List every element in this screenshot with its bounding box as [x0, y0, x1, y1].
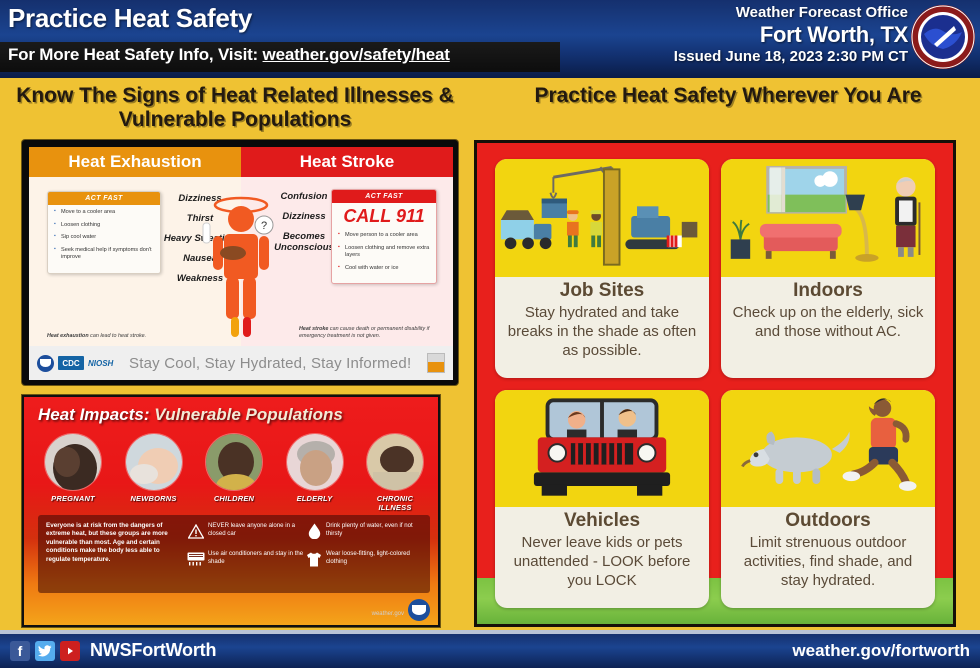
safety-card-body: Never leave kids or pets unattended - LO…	[503, 533, 701, 590]
facebook-icon[interactable]: f	[10, 641, 30, 661]
newborns-photo	[125, 433, 183, 491]
heat-impacts-tips: NEVER leave anyone alone in a closed car…	[176, 522, 422, 586]
runner-and-dog-icon	[721, 390, 935, 508]
safety-card-job-sites[interactable]: Job Sites Stay hydrated and take breaks …	[495, 159, 709, 378]
heat-impacts-title-sub: Vulnerable Populations	[154, 405, 343, 424]
heat-impacts-info-box: Everyone is at risk from the dangers of …	[38, 515, 430, 593]
vulnerable-group: CHILDREN	[199, 433, 269, 512]
heat-card-footer-strip: CDC NIOSH Stay Cool, Stay Hydrated, Stay…	[29, 346, 453, 380]
heat-impacts-title-main: Heat Impacts:	[38, 405, 149, 424]
noaa-seal-icon	[408, 599, 430, 621]
twitter-icon[interactable]	[35, 641, 55, 661]
header-bar: Practice Heat Safety For More Heat Safet…	[0, 0, 980, 78]
vulnerable-group: NEWBORNS	[119, 433, 189, 512]
safety-card-heading: Outdoors	[729, 509, 927, 533]
vulnerable-groups-row: PREGNANT NEWBORNS CHILDREN ELDERLY	[38, 433, 430, 512]
weather-gov-watermark: weather.gov	[372, 611, 404, 617]
stay-cool-slogan: Stay Cool, Stay Hydrated, Stay Informed!	[113, 355, 427, 372]
office-location: Fort Worth, TX	[674, 22, 908, 47]
construction-site-icon	[495, 159, 709, 277]
infographic-root: Practice Heat Safety For More Heat Safet…	[0, 0, 980, 668]
act-fast-item: Cool with water or ice	[338, 265, 431, 273]
heat-illness-inner: Heat Exhaustion Heat Stroke ACT FAST Mov…	[29, 147, 453, 380]
office-info: Weather Forecast Office Fort Worth, TX I…	[674, 3, 908, 67]
air-conditioner-icon	[186, 550, 206, 568]
act-fast-label-right: ACT FAST	[332, 190, 436, 203]
safety-card-body: Stay hydrated and take breaks in the sha…	[503, 303, 701, 360]
heat-tip-text: NEVER leave anyone alone in a closed car	[206, 522, 304, 538]
noaa-logo-icon	[37, 355, 54, 372]
act-fast-item: Loosen clothing and remove extra layers	[338, 245, 431, 260]
safety-card-indoors[interactable]: Indoors Check up on the elderly, sick an…	[721, 159, 935, 378]
vulnerable-group-label: NEWBORNS	[119, 495, 189, 504]
water-drop-icon	[304, 522, 324, 540]
heat-stroke-note: Heat stroke can cause death or permanent…	[299, 326, 441, 340]
act-fast-item: Move person to a cooler area	[338, 232, 431, 240]
chronic-illness-photo	[366, 433, 424, 491]
act-fast-box-exhaustion: ACT FAST Move to a cooler area Loosen cl…	[47, 191, 161, 274]
heat-exhaustion-heading: Heat Exhaustion	[29, 147, 241, 177]
vulnerable-group: CHRONIC ILLNESS	[360, 433, 430, 512]
heat-illness-headings: Heat Exhaustion Heat Stroke	[29, 147, 453, 177]
header-subtitle-prefix: For More Heat Safety Info, Visit:	[8, 45, 263, 64]
heat-illness-card: Heat Exhaustion Heat Stroke ACT FAST Mov…	[22, 140, 458, 385]
act-fast-list-right: Move person to a cooler area Loosen clot…	[332, 228, 436, 283]
note-rest: can lead to heat stroke.	[89, 333, 147, 339]
heat-stroke-heading: Heat Stroke	[241, 147, 453, 177]
heat-tip-text: Wear loose-fitting, light-colored clothi…	[324, 550, 422, 566]
nws-seal-icon	[910, 4, 976, 70]
svg-text:?: ?	[261, 220, 267, 232]
safety-card-body: Limit strenuous outdoor activities, find…	[729, 533, 927, 590]
note-bold: Heat exhaustion	[47, 333, 89, 339]
act-fast-item: Move to a cooler area	[54, 209, 155, 217]
safety-card-text: Job Sites Stay hydrated and take breaks …	[495, 277, 709, 378]
safety-card-body: Check up on the elderly, sick and those …	[729, 303, 927, 341]
safety-card-heading: Indoors	[729, 279, 927, 303]
act-fast-label-left: ACT FAST	[48, 192, 160, 205]
heat-tip-text: Use air conditioners and stay in the sha…	[206, 550, 304, 566]
heat-impacts-blurb: Everyone is at risk from the dangers of …	[46, 522, 176, 586]
pregnant-photo	[44, 433, 102, 491]
heat-tip: Wear loose-fitting, light-colored clothi…	[304, 550, 422, 568]
right-section-title: Practice Heat Safety Wherever You Are	[478, 84, 978, 108]
act-fast-list-left: Move to a cooler area Loosen clothing Si…	[48, 205, 160, 273]
vulnerable-group-label: CHRONIC ILLNESS	[360, 495, 430, 512]
living-room-icon	[721, 159, 935, 277]
children-photo	[205, 433, 263, 491]
vulnerable-group-label: PREGNANT	[38, 495, 108, 504]
left-section-title: Know The Signs of Heat Related Illnesses…	[0, 84, 470, 132]
heat-tip: Use air conditioners and stay in the sha…	[186, 550, 304, 568]
safety-card-text: Vehicles Never leave kids or pets unatte…	[495, 507, 709, 608]
act-fast-item: Seek medical help if symptoms don't impr…	[54, 247, 155, 262]
warning-triangle-icon	[186, 522, 206, 540]
youtube-icon[interactable]	[60, 641, 80, 661]
footer-bar: f NWSFortWorth weather.gov/fortworth	[0, 630, 980, 668]
vulnerable-group: PREGNANT	[38, 433, 108, 512]
safety-cards-panel: Job Sites Stay hydrated and take breaks …	[474, 140, 956, 627]
safety-card-vehicles[interactable]: Vehicles Never leave kids or pets unatte…	[495, 390, 709, 609]
heat-exhaustion-note: Heat exhaustion can lead to heat stroke.	[47, 333, 197, 340]
safety-card-text: Outdoors Limit strenuous outdoor activit…	[721, 507, 935, 608]
heat-tip: Drink plenty of water, even if not thirs…	[304, 522, 422, 540]
heat-tip-text: Drink plenty of water, even if not thirs…	[324, 522, 422, 538]
safety-cards-grid: Job Sites Stay hydrated and take breaks …	[477, 143, 953, 624]
act-fast-item: Sip cool water	[54, 234, 155, 242]
note-bold: Heat stroke	[299, 326, 328, 332]
call-911-text: CALL 911	[332, 203, 436, 228]
heat-tip: NEVER leave anyone alone in a closed car	[186, 522, 304, 540]
cdc-logo-icon: CDC	[58, 356, 84, 370]
heat-person-icon: ?	[193, 189, 289, 339]
act-fast-item: Loosen clothing	[54, 222, 155, 230]
elderly-photo	[286, 433, 344, 491]
safety-card-heading: Job Sites	[503, 279, 701, 303]
heat-impacts-title: Heat Impacts: Vulnerable Populations	[38, 405, 343, 425]
vulnerable-group-label: ELDERLY	[280, 495, 350, 504]
safety-card-text: Indoors Check up on the elderly, sick an…	[721, 277, 935, 378]
niosh-logo-icon: NIOSH	[88, 359, 113, 368]
tshirt-icon	[304, 550, 324, 568]
issued-timestamp: Issued June 18, 2023 2:30 PM CT	[674, 47, 908, 67]
social-links: f NWSFortWorth	[10, 640, 216, 661]
heat-impacts-card: Heat Impacts: Vulnerable Populations PRE…	[22, 395, 440, 627]
page-title: Practice Heat Safety	[8, 3, 252, 34]
office-label: Weather Forecast Office	[674, 3, 908, 22]
footer-url[interactable]: weather.gov/fortworth	[792, 641, 970, 661]
safety-card-heading: Vehicles	[503, 509, 701, 533]
thermometer-badge-icon	[427, 353, 445, 373]
safety-card-outdoors[interactable]: Outdoors Limit strenuous outdoor activit…	[721, 390, 935, 609]
header-subtitle: For More Heat Safety Info, Visit: weathe…	[8, 45, 450, 65]
act-fast-box-stroke: ACT FAST CALL 911 Move person to a coole…	[331, 189, 437, 284]
heat-safety-link[interactable]: weather.gov/safety/heat	[263, 45, 450, 64]
social-handle[interactable]: NWSFortWorth	[90, 640, 216, 661]
red-jeep-icon	[495, 390, 709, 508]
vulnerable-group-label: CHILDREN	[199, 495, 269, 504]
vulnerable-group: ELDERLY	[280, 433, 350, 512]
